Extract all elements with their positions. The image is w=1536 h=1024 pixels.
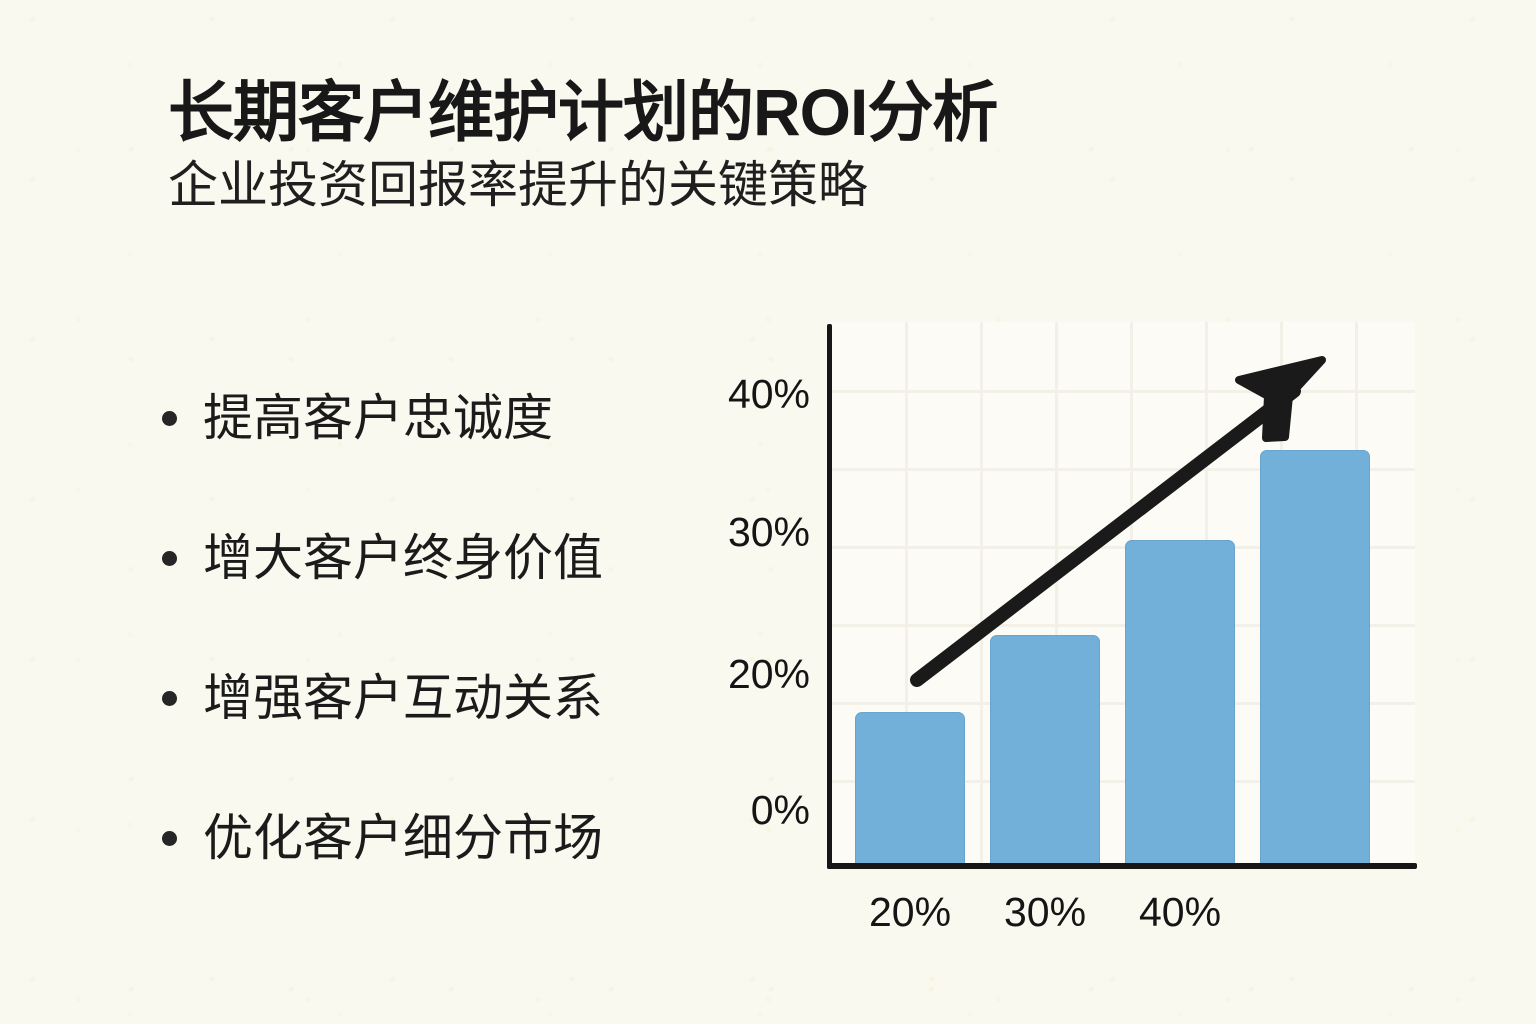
bullet-dot-icon <box>162 691 177 706</box>
y-axis-tick-20: 20% <box>728 654 810 695</box>
y-axis-line <box>827 324 832 869</box>
bullet-dot-icon <box>162 831 177 846</box>
list-item: 增强客户互动关系 <box>162 628 722 768</box>
x-axis-tick-1: 20% <box>855 892 965 933</box>
x-axis-line <box>827 863 1417 869</box>
page-subtitle: 企业投资回报率提升的关键策略 <box>168 158 1288 213</box>
list-item-label: 增大客户终身价值 <box>203 533 603 583</box>
x-axis-tick-2: 30% <box>990 892 1100 933</box>
slide-canvas: 长期客户维护计划的ROI分析 企业投资回报率提升的关键策略 提高客户忠诚度 增大… <box>0 0 1536 1024</box>
page-title: 长期客户维护计划的ROI分析 <box>168 78 1288 148</box>
y-axis-tick-0: 0% <box>751 790 810 831</box>
bullet-dot-icon <box>162 411 177 426</box>
list-item: 优化客户细分市场 <box>162 768 722 908</box>
bar-1[interactable] <box>855 712 965 864</box>
bar-4[interactable] <box>1260 450 1370 864</box>
bar-series <box>712 312 1472 952</box>
list-item-label: 增强客户互动关系 <box>203 673 603 723</box>
list-item: 提高客户忠诚度 <box>162 348 722 488</box>
bar-2[interactable] <box>990 635 1100 864</box>
bar-3[interactable] <box>1125 540 1235 864</box>
x-axis-tick-3: 40% <box>1125 892 1235 933</box>
key-points-list: 提高客户忠诚度 增大客户终身价值 增强客户互动关系 优化客户细分市场 <box>162 348 722 908</box>
y-axis-tick-40: 40% <box>728 374 810 415</box>
roi-bar-chart: 40% 30% 20% 0% 20% 30% 40% <box>712 312 1472 952</box>
list-item-label: 提高客户忠诚度 <box>203 393 553 443</box>
list-item: 增大客户终身价值 <box>162 488 722 628</box>
list-item-label: 优化客户细分市场 <box>203 813 603 863</box>
bullet-dot-icon <box>162 551 177 566</box>
y-axis-tick-30: 30% <box>728 512 810 553</box>
header: 长期客户维护计划的ROI分析 企业投资回报率提升的关键策略 <box>168 78 1288 213</box>
